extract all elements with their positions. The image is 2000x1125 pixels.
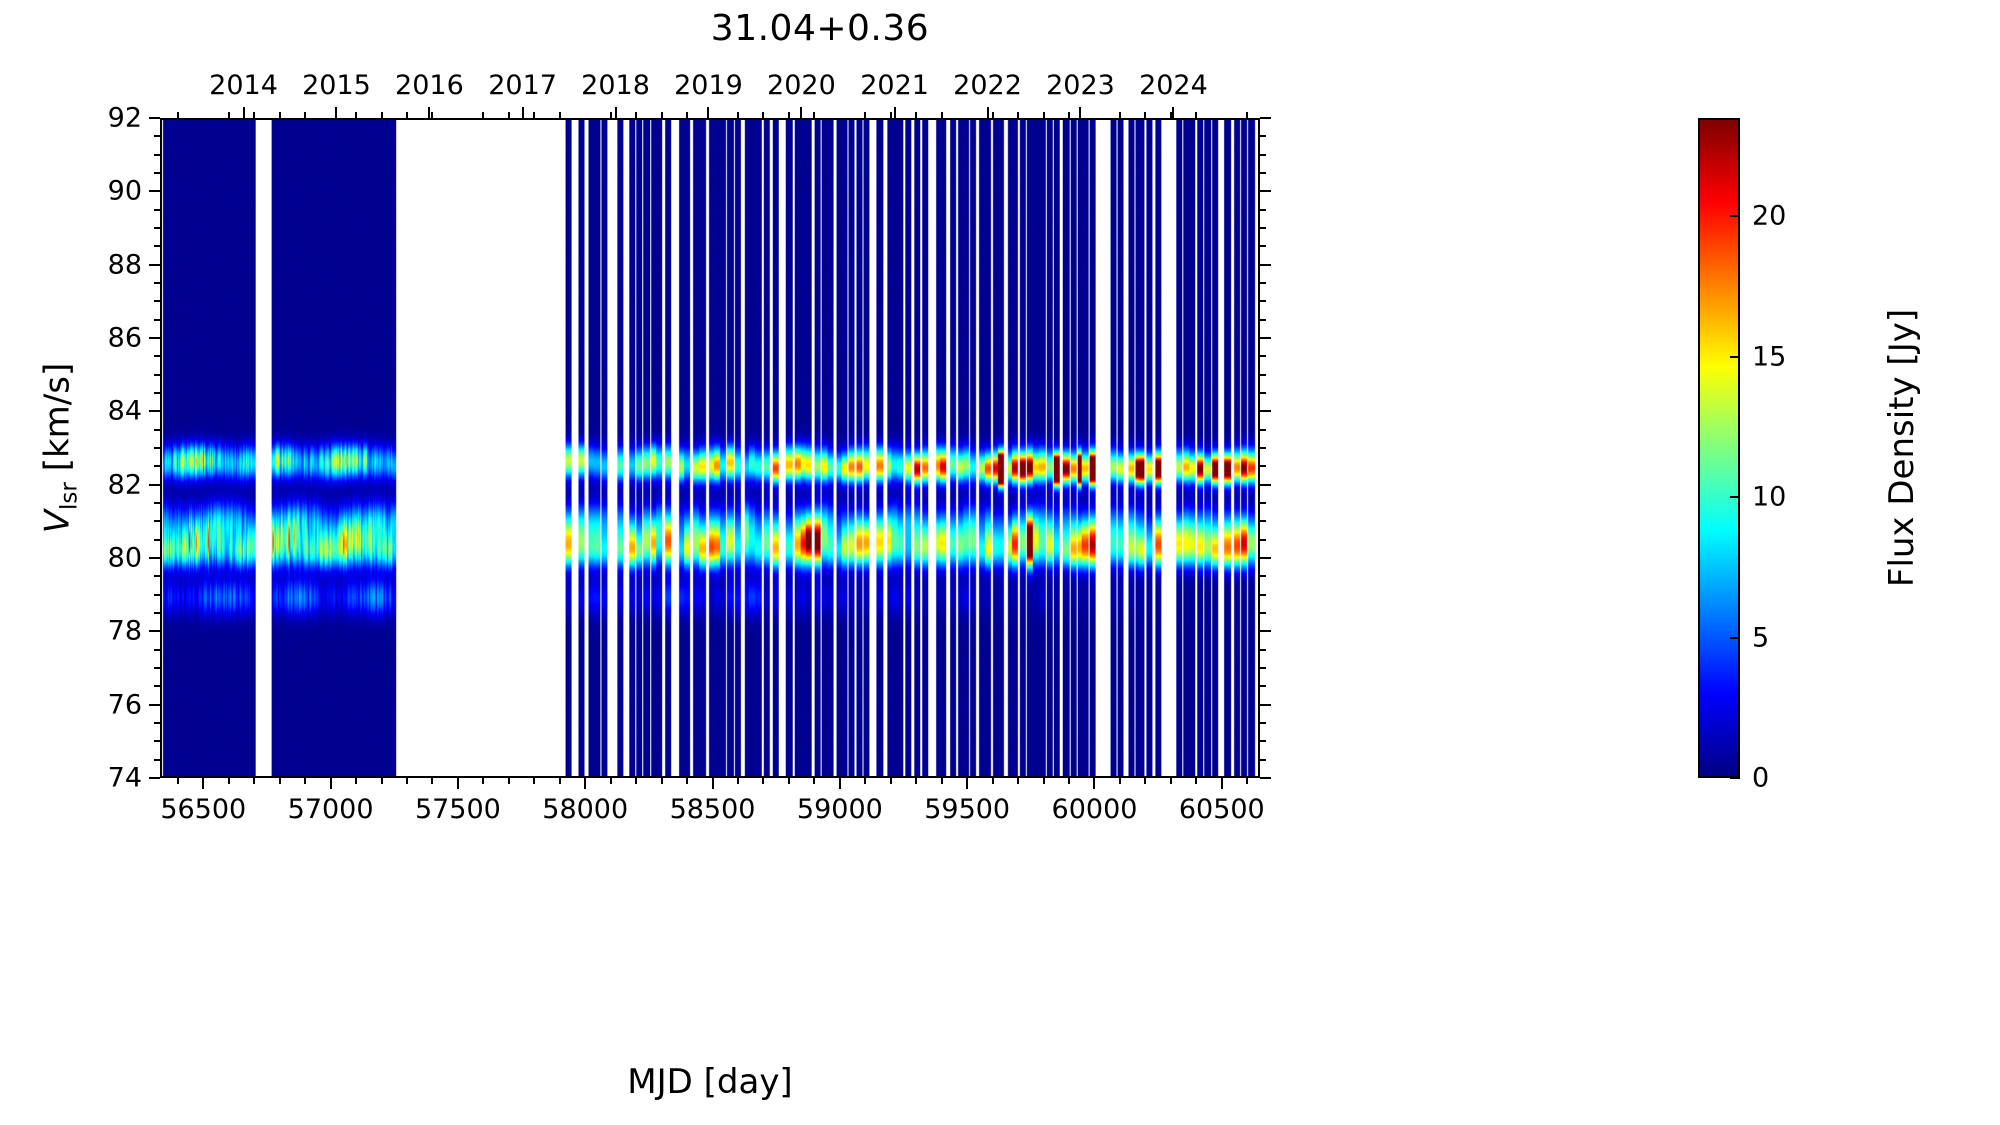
y-tick-minor-right — [1260, 740, 1266, 742]
colorbar-tick-label: 15 — [1752, 341, 1786, 372]
year-tick — [335, 107, 337, 118]
x-tick-minor — [610, 778, 612, 784]
y-tick-minor-right — [1260, 282, 1266, 284]
y-axis-symbol: V — [38, 510, 78, 533]
year-tick-label: 2024 — [1139, 70, 1208, 101]
x-tick-minor — [1119, 778, 1121, 784]
x-tick-minor-top — [992, 112, 994, 118]
year-tick-label: 2021 — [860, 70, 929, 101]
y-tick-minor-right — [1260, 172, 1266, 174]
x-tick-minor-top — [279, 112, 281, 118]
x-tick-minor-top — [864, 112, 866, 118]
x-tick-minor-top — [381, 112, 383, 118]
dynamic-spectrum-figure: 31.04+0.36 56500570005750058000585005900… — [0, 0, 2000, 1125]
x-tick-minor — [864, 778, 866, 784]
x-tick-minor — [915, 778, 917, 784]
year-tick-label: 2023 — [1046, 70, 1115, 101]
x-tick-label: 56500 — [160, 794, 246, 825]
y-tick-minor-right — [1260, 520, 1266, 522]
x-tick-minor-top — [1017, 112, 1019, 118]
colorbar-label-wrapper: Flux Density [Jy] — [1872, 118, 1932, 778]
year-tick — [987, 107, 989, 118]
year-tick — [800, 107, 802, 118]
y-tick-minor — [154, 300, 160, 302]
year-tick — [1172, 107, 1174, 118]
x-tick-minor — [381, 778, 383, 784]
y-tick-minor-right — [1260, 154, 1266, 156]
x-tick-minor — [1246, 778, 1248, 784]
y-tick-major — [149, 264, 160, 266]
x-tick-minor — [788, 778, 790, 784]
y-tick-major-right — [1260, 777, 1271, 779]
colorbar-label: Flux Density [Jy] — [1882, 309, 1922, 587]
y-tick-major — [149, 557, 160, 559]
y-axis-subscript: lsr — [56, 482, 82, 510]
x-tick-major — [584, 778, 586, 789]
y-tick-minor — [154, 520, 160, 522]
x-tick-minor — [1170, 778, 1172, 784]
x-tick-label: 59500 — [924, 794, 1010, 825]
x-tick-minor-top — [304, 112, 306, 118]
y-tick-minor-right — [1260, 575, 1266, 577]
x-tick-minor — [992, 778, 994, 784]
x-tick-minor-top — [533, 112, 535, 118]
x-tick-major — [1093, 778, 1095, 789]
year-tick — [615, 107, 617, 118]
x-tick-major — [712, 778, 714, 789]
page-title: 31.04+0.36 — [0, 8, 1640, 49]
year-tick — [522, 107, 524, 118]
y-tick-minor — [154, 227, 160, 229]
year-tick-label: 2020 — [767, 70, 836, 101]
year-tick-label: 2017 — [488, 70, 557, 101]
colorbar-tick — [1730, 777, 1740, 779]
year-tick — [243, 107, 245, 118]
y-tick-minor-right — [1260, 502, 1266, 504]
y-tick-minor-right — [1260, 227, 1266, 229]
x-tick-label: 60500 — [1179, 794, 1265, 825]
x-tick-major — [839, 778, 841, 789]
y-tick-major-right — [1260, 630, 1271, 632]
y-tick-minor-right — [1260, 649, 1266, 651]
colorbar-tick-label: 10 — [1752, 482, 1786, 513]
y-tick-minor — [154, 282, 160, 284]
y-tick-minor — [154, 667, 160, 669]
y-tick-minor — [154, 594, 160, 596]
x-tick-minor — [1068, 778, 1070, 784]
y-tick-minor — [154, 649, 160, 651]
x-tick-minor — [304, 778, 306, 784]
x-tick-minor-top — [1043, 112, 1045, 118]
y-tick-minor-right — [1260, 135, 1266, 137]
y-tick-minor-right — [1260, 539, 1266, 541]
x-tick-minor-top — [941, 112, 943, 118]
colorbar-tick — [1730, 356, 1740, 358]
y-tick-minor-right — [1260, 392, 1266, 394]
year-tick — [894, 107, 896, 118]
y-tick-minor-right — [1260, 245, 1266, 247]
y-tick-major-right — [1260, 410, 1271, 412]
x-tick-label: 57000 — [288, 794, 374, 825]
x-tick-minor-top — [1119, 112, 1121, 118]
x-tick-minor-top — [788, 112, 790, 118]
x-tick-major — [1221, 778, 1223, 789]
x-tick-minor-top — [559, 112, 561, 118]
y-tick-minor-right — [1260, 355, 1266, 357]
y-tick-minor — [154, 154, 160, 156]
x-tick-label: 57500 — [415, 794, 501, 825]
y-tick-minor — [154, 374, 160, 376]
x-tick-minor-top — [635, 112, 637, 118]
x-tick-minor-top — [508, 112, 510, 118]
colorbar-tick — [1730, 637, 1740, 639]
x-tick-minor-top — [1068, 112, 1070, 118]
x-tick-minor-top — [177, 112, 179, 118]
x-tick-minor — [482, 778, 484, 784]
y-tick-major — [149, 630, 160, 632]
x-tick-label: 58500 — [670, 794, 756, 825]
y-tick-major — [149, 410, 160, 412]
x-tick-minor — [1144, 778, 1146, 784]
y-tick-minor — [154, 740, 160, 742]
x-tick-minor — [1195, 778, 1197, 784]
y-tick-minor — [154, 759, 160, 761]
y-tick-major — [149, 777, 160, 779]
x-tick-minor — [737, 778, 739, 784]
x-tick-minor — [508, 778, 510, 784]
y-tick-minor-right — [1260, 429, 1266, 431]
x-tick-minor — [661, 778, 663, 784]
y-tick-minor — [154, 245, 160, 247]
x-tick-minor-top — [355, 112, 357, 118]
y-tick-minor — [154, 135, 160, 137]
y-tick-minor-right — [1260, 300, 1266, 302]
y-tick-minor-right — [1260, 209, 1266, 211]
x-tick-minor-top — [686, 112, 688, 118]
x-tick-minor-top — [915, 112, 917, 118]
y-tick-minor — [154, 319, 160, 321]
x-tick-minor-top — [737, 112, 739, 118]
x-tick-minor — [355, 778, 357, 784]
x-tick-minor — [406, 778, 408, 784]
y-tick-major-right — [1260, 704, 1271, 706]
y-tick-major — [149, 704, 160, 706]
x-tick-minor — [762, 778, 764, 784]
x-tick-label: 60000 — [1052, 794, 1138, 825]
x-tick-minor — [1017, 778, 1019, 784]
x-tick-minor-top — [482, 112, 484, 118]
x-tick-minor — [686, 778, 688, 784]
x-tick-minor-top — [1144, 112, 1146, 118]
year-tick-label: 2022 — [953, 70, 1022, 101]
x-tick-minor — [228, 778, 230, 784]
x-tick-minor-top — [253, 112, 255, 118]
heatmap-canvas — [162, 120, 1258, 776]
year-tick-label: 2015 — [302, 70, 371, 101]
x-tick-minor — [635, 778, 637, 784]
x-tick-major — [457, 778, 459, 789]
y-axis-label: Vlsr [km/s] — [38, 363, 83, 533]
y-tick-major — [149, 117, 160, 119]
year-tick-label: 2019 — [674, 70, 743, 101]
y-tick-major — [149, 484, 160, 486]
y-tick-minor — [154, 502, 160, 504]
x-tick-label: 58000 — [542, 794, 628, 825]
plot-area — [160, 118, 1260, 778]
y-tick-major — [149, 190, 160, 192]
y-tick-minor-right — [1260, 612, 1266, 614]
x-tick-minor-top — [813, 112, 815, 118]
y-tick-major-right — [1260, 337, 1271, 339]
colorbar-tick — [1730, 215, 1740, 217]
x-tick-minor-top — [661, 112, 663, 118]
y-tick-minor — [154, 722, 160, 724]
x-tick-minor-top — [406, 112, 408, 118]
year-tick-label: 2014 — [209, 70, 278, 101]
y-tick-major-right — [1260, 264, 1271, 266]
x-tick-minor — [431, 778, 433, 784]
x-tick-minor — [559, 778, 561, 784]
y-axis-label-wrapper: Vlsr [km/s] — [30, 118, 90, 778]
y-tick-minor-right — [1260, 722, 1266, 724]
colorbar-canvas — [1700, 120, 1738, 776]
y-tick-minor — [154, 612, 160, 614]
x-tick-minor — [1043, 778, 1045, 784]
x-tick-major — [330, 778, 332, 789]
y-tick-minor-right — [1260, 319, 1266, 321]
x-tick-minor — [533, 778, 535, 784]
x-axis-label: MJD [day] — [160, 1062, 1260, 1102]
x-tick-minor-top — [228, 112, 230, 118]
x-tick-minor-top — [431, 112, 433, 118]
x-tick-minor — [177, 778, 179, 784]
y-tick-minor-right — [1260, 667, 1266, 669]
x-tick-minor — [279, 778, 281, 784]
y-tick-major-right — [1260, 557, 1271, 559]
y-tick-minor — [154, 392, 160, 394]
y-tick-minor — [154, 575, 160, 577]
year-tick-label: 2016 — [395, 70, 464, 101]
y-tick-major — [149, 337, 160, 339]
x-tick-minor-top — [1246, 112, 1248, 118]
y-tick-major-right — [1260, 484, 1271, 486]
colorbar-tick-label: 0 — [1752, 763, 1769, 794]
x-tick-minor — [253, 778, 255, 784]
y-tick-minor-right — [1260, 374, 1266, 376]
y-tick-minor-right — [1260, 759, 1266, 761]
year-tick — [707, 107, 709, 118]
x-tick-minor-top — [762, 112, 764, 118]
x-tick-minor — [890, 778, 892, 784]
y-tick-minor — [154, 429, 160, 431]
y-tick-minor — [154, 209, 160, 211]
x-tick-minor-top — [890, 112, 892, 118]
y-tick-major-right — [1260, 190, 1271, 192]
y-tick-minor-right — [1260, 685, 1266, 687]
y-tick-minor — [154, 355, 160, 357]
x-tick-minor-top — [610, 112, 612, 118]
year-tick — [1079, 107, 1081, 118]
x-tick-minor — [813, 778, 815, 784]
x-tick-label: 59000 — [797, 794, 883, 825]
y-tick-minor — [154, 465, 160, 467]
colorbar-tick-label: 20 — [1752, 201, 1786, 232]
x-tick-major — [202, 778, 204, 789]
x-tick-major — [966, 778, 968, 789]
y-tick-minor-right — [1260, 465, 1266, 467]
y-tick-minor — [154, 447, 160, 449]
y-tick-minor — [154, 172, 160, 174]
x-tick-minor-top — [1195, 112, 1197, 118]
y-tick-major-right — [1260, 117, 1271, 119]
year-tick-label: 2018 — [581, 70, 650, 101]
y-tick-minor — [154, 685, 160, 687]
y-tick-minor-right — [1260, 594, 1266, 596]
year-tick — [428, 107, 430, 118]
y-tick-minor — [154, 539, 160, 541]
colorbar-tick-label: 5 — [1752, 622, 1769, 653]
x-tick-minor — [941, 778, 943, 784]
colorbar-tick — [1730, 496, 1740, 498]
y-tick-minor-right — [1260, 447, 1266, 449]
